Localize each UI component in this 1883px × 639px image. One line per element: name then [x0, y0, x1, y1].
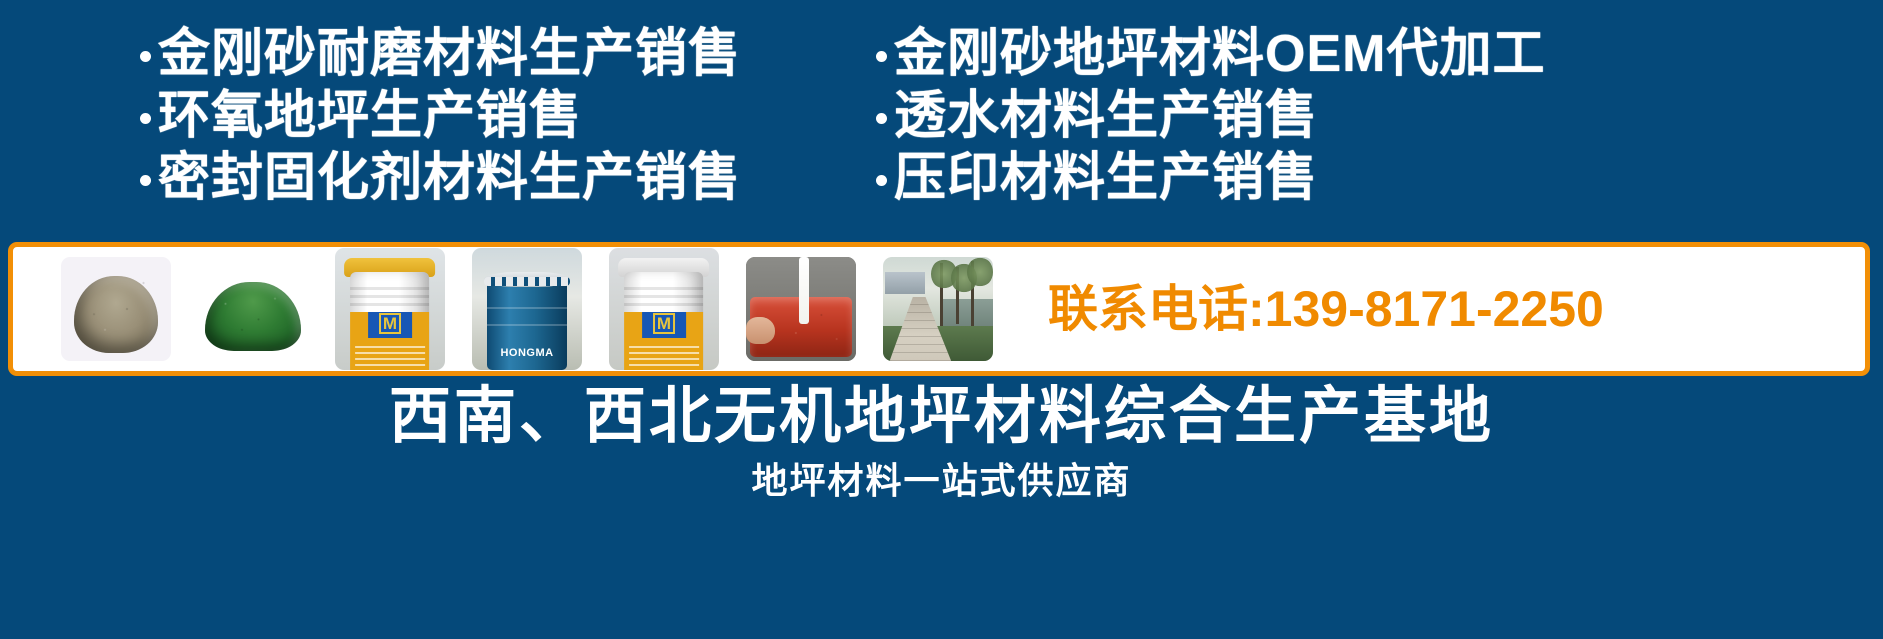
product-showcase-panel: M HONGMA [8, 242, 1870, 376]
pail-rib [351, 287, 430, 290]
drum-clamp-ring [484, 277, 570, 286]
m-brand-logo-icon: M [379, 313, 401, 334]
product-thumb-concrete-sealer-pail: M [335, 248, 445, 370]
bullet-dot-icon [140, 175, 151, 186]
powder-grain-texture [198, 257, 308, 361]
advertising-banner: 金刚砂耐磨材料生产销售 环氧地坪生产销售 密封固化剂材料生产销售 金刚砂地坪材料… [0, 0, 1883, 639]
product-thumb-epoxy-floor-coating-pail: M [609, 248, 719, 370]
product-thumb-red-permeable-material [746, 257, 856, 361]
bullet-dot-icon [876, 113, 887, 124]
pail-label-text-lines [629, 346, 698, 368]
pail-label-banner: M [368, 312, 412, 339]
bullet-dot-icon [876, 175, 887, 186]
services-list: 金刚砂耐磨材料生产销售 环氧地坪生产销售 密封固化剂材料生产销售 金刚砂地坪材料… [0, 26, 1883, 226]
services-column-right: 金刚砂地坪材料OEM代加工 透水材料生产销售 压印材料生产销售 [860, 26, 1883, 226]
product-thumb-green-abrasive-powder [198, 257, 308, 361]
pail-label: M [351, 312, 430, 370]
contact-phone[interactable]: 联系电话:139-8171-2250 [1048, 283, 1604, 335]
product-thumb-stamped-concrete-path [883, 257, 993, 361]
service-item: 透水材料生产销售 [876, 88, 1883, 144]
bullet-dot-icon [140, 51, 151, 62]
product-thumb-hongma-blue-drum: HONGMA [472, 248, 582, 370]
banner-headline: 西南、西北无机地坪材料综合生产基地 [0, 382, 1883, 452]
service-item: 环氧地坪生产销售 [140, 88, 860, 144]
service-label: 密封固化剂材料生产销售 [158, 150, 741, 206]
product-thumbnail-list: M HONGMA [13, 248, 1020, 370]
bullet-dot-icon [876, 51, 887, 62]
service-label: 透水材料生产销售 [894, 88, 1318, 144]
pail-label-banner: M [642, 312, 686, 339]
service-label: 金刚砂耐磨材料生产销售 [158, 26, 741, 82]
pail-label-text-lines [355, 346, 424, 368]
service-item: 金刚砂地坪材料OEM代加工 [876, 26, 1883, 82]
service-item: 密封固化剂材料生产销售 [140, 150, 860, 206]
service-label: 环氧地坪生产销售 [158, 88, 582, 144]
service-item: 压印材料生产销售 [876, 150, 1883, 206]
pail-rib [625, 287, 704, 290]
banner-subheadline: 地坪材料一站式供应商 [0, 460, 1883, 502]
bullet-dot-icon [140, 113, 151, 124]
m-brand-logo-icon: M [653, 313, 675, 334]
services-column-left: 金刚砂耐磨材料生产销售 环氧地坪生产销售 密封固化剂材料生产销售 [0, 26, 860, 226]
tree-canopy [967, 257, 993, 287]
pail-rib [625, 303, 704, 306]
drum-hoop [487, 307, 566, 309]
pail-rib [351, 303, 430, 306]
water-pour-stream [799, 257, 809, 324]
pail-label: M [625, 312, 704, 370]
building-shape [885, 272, 925, 295]
service-label: 压印材料生产销售 [894, 150, 1318, 206]
hand-shape [746, 317, 775, 344]
service-item: 金刚砂耐磨材料生产销售 [140, 26, 860, 82]
product-thumb-grey-abrasive-powder [61, 257, 171, 361]
pail-rib [351, 295, 430, 298]
service-label: 金刚砂地坪材料OEM代加工 [894, 26, 1545, 82]
pail-shape: M [347, 258, 433, 370]
pail-shape: M [621, 258, 707, 370]
drum-brand-label: HONGMA [472, 347, 582, 359]
drum-hoop [487, 324, 566, 326]
pail-rib [625, 295, 704, 298]
powder-grain-texture [61, 257, 171, 361]
